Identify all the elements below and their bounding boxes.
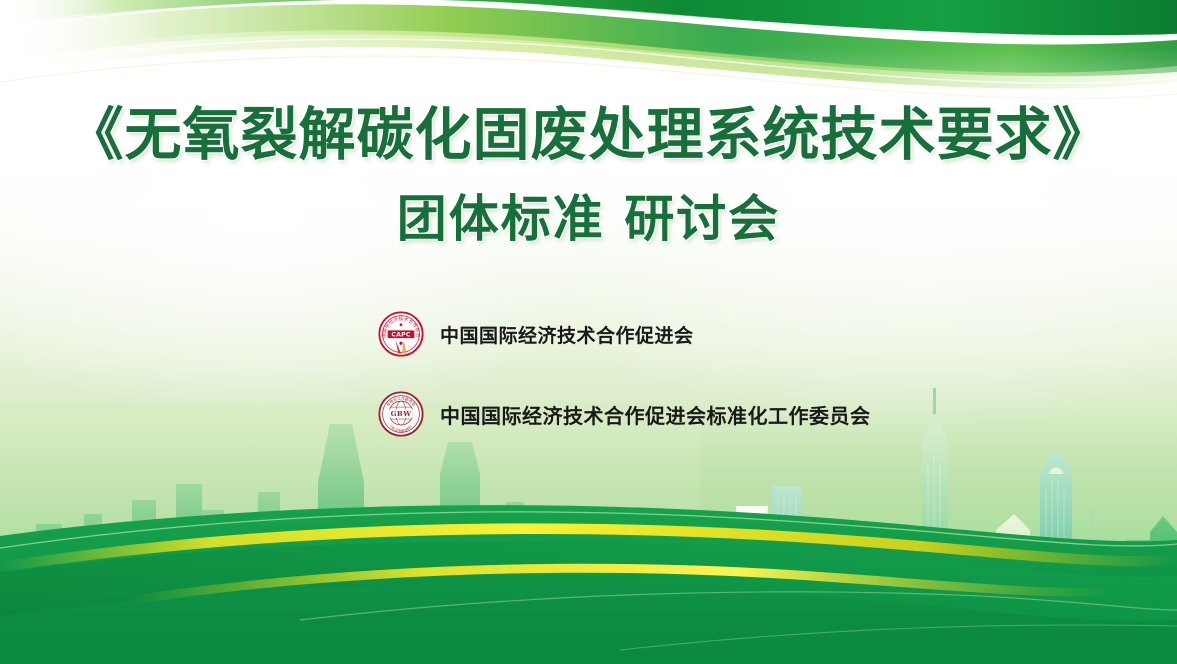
organization-label: 中国国际经济技术合作促进会 [440,321,694,348]
title-block: 《无氧裂解碳化固废处理系统技术要求》 团体标准 研讨会 [0,104,1177,247]
slide-main-title: 《无氧裂解碳化固废处理系统技术要求》 [0,104,1177,168]
gbw-seal-icon: 标准化工作委员会 GB STANDARD GBW [378,391,424,437]
organization-list: 中国国际经济技术合作促进会 CAPC 中国国际经济技术合作促进会 [378,308,1098,440]
organization-row: 标准化工作委员会 GB STANDARD GBW 中国国际经济技术合作促进会标准… [378,388,1098,440]
gbw-seal-logo: 标准化工作委员会 GB STANDARD GBW [378,391,424,437]
organization-row: 中国国际经济技术合作促进会 CAPC 中国国际经济技术合作促进会 [378,308,1098,360]
capc-seal-logo: 中国国际经济技术合作促进会 CAPC [378,311,424,357]
capc-seal-icon: 中国国际经济技术合作促进会 CAPC [378,311,424,357]
slide-content: 《无氧裂解碳化固废处理系统技术要求》 团体标准 研讨会 中国国际经济技术合作促进… [0,0,1177,664]
svg-text:CAPC: CAPC [391,332,411,339]
svg-text:GBW: GBW [391,410,412,418]
presentation-slide: 《无氧裂解碳化固废处理系统技术要求》 团体标准 研讨会 中国国际经济技术合作促进… [0,0,1177,664]
slide-sub-title: 团体标准 研讨会 [0,192,1177,247]
organization-label: 中国国际经济技术合作促进会标准化工作委员会 [440,400,871,429]
